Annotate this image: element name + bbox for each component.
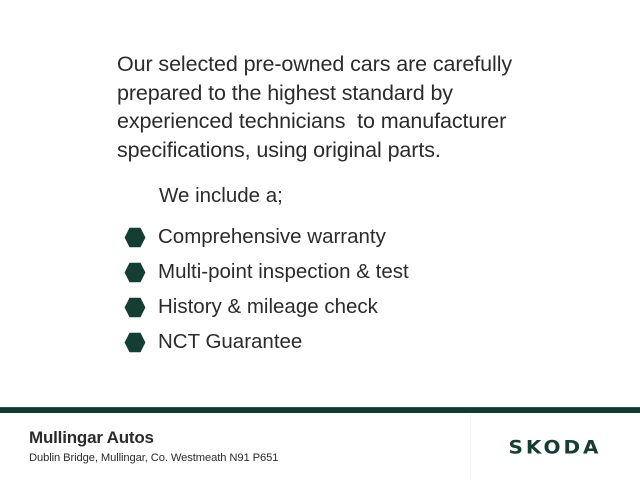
hexagon-bullet-icon — [124, 262, 146, 283]
list-item: NCT Guarantee — [124, 325, 544, 360]
list-item-label: Multi-point inspection & test — [158, 260, 409, 284]
list-item: History & mileage check — [124, 290, 544, 325]
footer-accent-bar-highlight — [0, 407, 640, 408]
footer: Mullingar Autos Dublin Bridge, Mullingar… — [0, 413, 640, 480]
hexagon-bullet-icon — [124, 297, 146, 318]
list-item-label: History & mileage check — [158, 295, 378, 319]
list-item-label: NCT Guarantee — [158, 330, 302, 354]
hexagon-bullet-icon — [124, 227, 146, 248]
hexagon-bullet-icon — [124, 332, 146, 353]
headline-line-4: specifications, using original parts. — [117, 136, 547, 165]
headline-line-1: Our selected pre-owned cars are carefull… — [117, 50, 547, 79]
headline-line-3: experienced technicians to manufacturer — [117, 107, 547, 136]
skoda-wordmark: SKODA — [508, 435, 601, 457]
headline-paragraph: Our selected pre-owned cars are carefull… — [117, 50, 547, 164]
include-intro-label: We include a; — [159, 183, 283, 209]
list-item: Comprehensive warranty — [124, 220, 544, 255]
skoda-logo: SKODA — [470, 413, 640, 480]
list-item: Multi-point inspection & test — [124, 255, 544, 290]
dealer-address: Dublin Bridge, Mullingar, Co. Westmeath … — [29, 452, 278, 464]
promo-slide: Our selected pre-owned cars are carefull… — [0, 0, 640, 480]
inclusions-list: Comprehensive warranty Multi-point inspe… — [124, 220, 544, 360]
dealer-name: Mullingar Autos — [29, 428, 154, 448]
list-item-label: Comprehensive warranty — [158, 225, 386, 249]
headline-line-2: prepared to the highest standard by — [117, 79, 547, 108]
